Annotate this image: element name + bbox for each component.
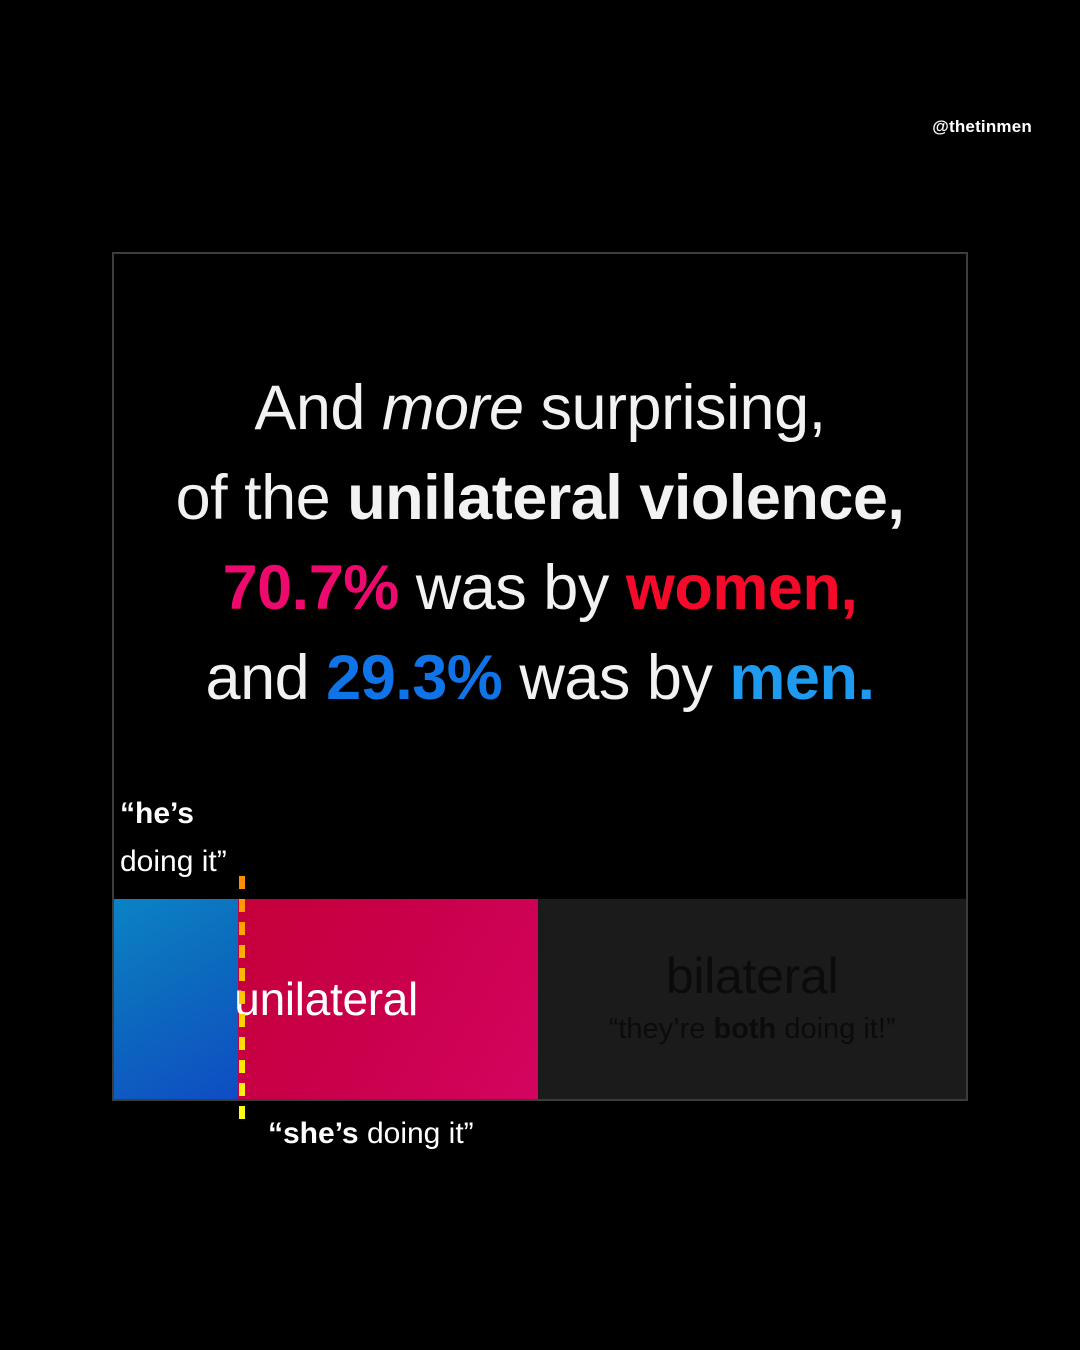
hes-annotation-line-2: doing it” bbox=[120, 838, 227, 886]
bar-segment-bilateral: bilateral “they’re both doing it!” bbox=[538, 899, 966, 1099]
headline-line2-strong: unilateral violence, bbox=[347, 463, 904, 533]
shes-annotation-strong: “she’s bbox=[268, 1117, 359, 1150]
headline-line1-part-c: surprising, bbox=[524, 373, 826, 443]
hes-annotation-line-1: “he’s bbox=[120, 790, 227, 838]
men-percentage: 29.3% bbox=[326, 643, 502, 713]
bilateral-label: bilateral bbox=[666, 947, 838, 1005]
headline-line-1: And more surprising, bbox=[112, 363, 968, 453]
dashed-divider-line bbox=[239, 876, 245, 1121]
men-word: men. bbox=[729, 643, 874, 713]
headline-line-4: and 29.3% was by men. bbox=[112, 633, 968, 723]
headline-text: And more surprising, of the unilateral v… bbox=[112, 363, 968, 723]
shes-annotation-rest: doing it” bbox=[359, 1117, 474, 1150]
bar-segment-unilateral: unilateral bbox=[114, 899, 538, 1099]
bilateral-sub-part-c: doing it!” bbox=[776, 1013, 895, 1045]
bilateral-sub-strong: both bbox=[713, 1013, 776, 1045]
headline-line2-part-a: of the bbox=[176, 463, 348, 533]
headline-line4-part-c: was by bbox=[502, 643, 729, 713]
headline-line1-part-a: And bbox=[254, 373, 382, 443]
headline-line-2: of the unilateral violence, bbox=[112, 453, 968, 543]
unilateral-label: unilateral bbox=[114, 899, 538, 1099]
bilateral-sub-part-a: “they’re bbox=[609, 1013, 714, 1045]
headline-line3-part-b: was by bbox=[399, 553, 626, 623]
headline-line-3: 70.7% was by women, bbox=[112, 543, 968, 633]
account-handle: @thetinmen bbox=[932, 117, 1032, 137]
women-percentage: 70.7% bbox=[223, 553, 399, 623]
bilateral-sublabel: “they’re both doing it!” bbox=[609, 1007, 896, 1051]
shes-doing-it-annotation: “she’s doing it” bbox=[268, 1117, 474, 1151]
hes-doing-it-annotation: “he’s doing it” bbox=[120, 790, 227, 886]
headline-line4-part-a: and bbox=[206, 643, 327, 713]
poster-canvas: @thetinmen And more surprising, of the u… bbox=[0, 0, 1080, 1350]
headline-line1-emphasis: more bbox=[382, 373, 524, 443]
women-word: women, bbox=[626, 553, 858, 623]
divider-gradient bbox=[239, 876, 245, 1121]
